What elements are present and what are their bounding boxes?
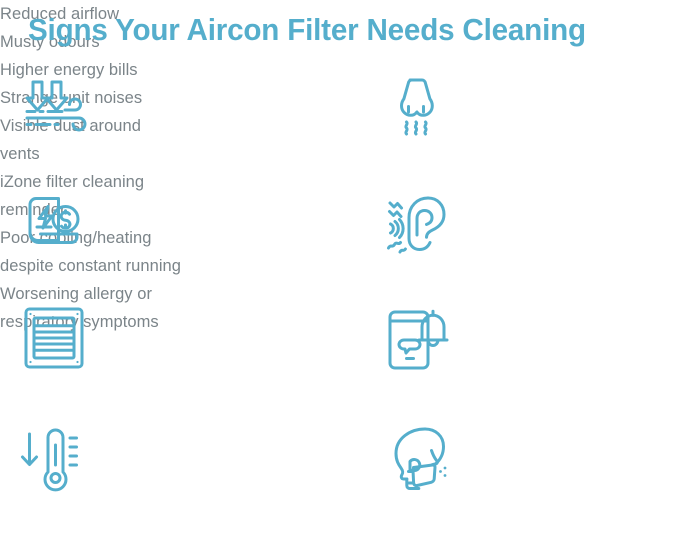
electricity-bill-dollar-icon <box>16 190 92 266</box>
thermometer-down-arrow-icon <box>16 420 92 496</box>
page-title: Signs Your Aircon Filter Needs Cleaning <box>28 10 639 50</box>
nose-odour-icon <box>378 70 454 146</box>
phone-bell-notification-icon <box>378 300 454 376</box>
ear-soundwave-icon <box>378 190 454 266</box>
vent-grille-icon <box>16 300 92 376</box>
airflow-down-arrows-icon <box>16 70 92 146</box>
infographic-page: Signs Your Aircon Filter Needs Cleaning … <box>0 0 697 555</box>
face-mask-allergy-icon <box>378 420 454 496</box>
